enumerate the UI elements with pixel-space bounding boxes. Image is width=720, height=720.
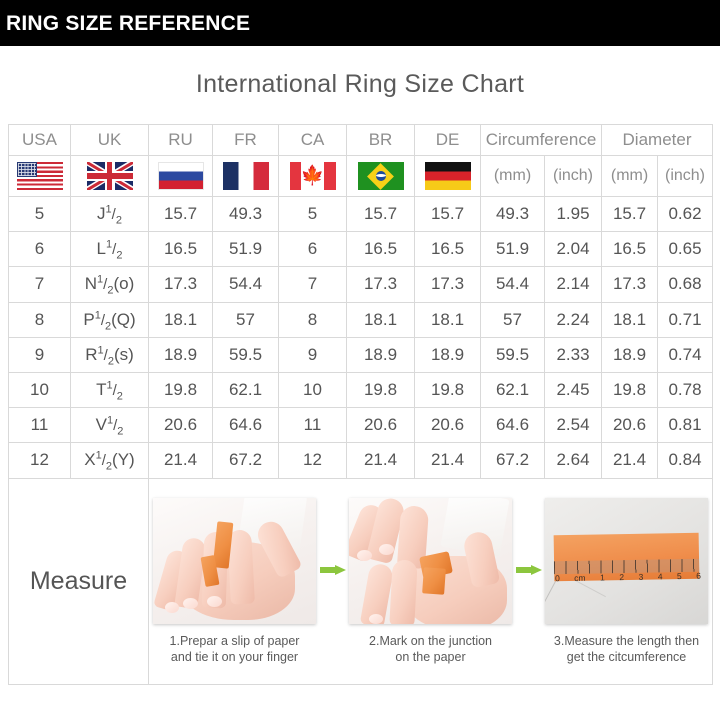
cell-circ-mm: 67.2 [481, 443, 545, 478]
page-banner: RING SIZE REFERENCE [0, 0, 720, 46]
header-circumference: Circumference [481, 125, 602, 156]
cell-circ-inch: 2.04 [545, 232, 602, 267]
header-ca: CA [279, 125, 347, 156]
cell-usa: 8 [9, 302, 71, 337]
cell-de: 15.7 [415, 197, 481, 232]
cell-uk: P1/2(Q) [71, 302, 149, 337]
cell-de: 18.1 [415, 302, 481, 337]
cell-ca: 10 [279, 372, 347, 407]
cell-usa: 12 [9, 443, 71, 478]
cell-ca: 9 [279, 337, 347, 372]
cell-dia-mm: 19.8 [602, 372, 658, 407]
ru-flag-icon [158, 162, 204, 190]
table-row: 6 L1/2 16.5 51.9 6 16.5 16.5 51.9 2.04 1… [9, 232, 713, 267]
cell-circ-inch: 2.45 [545, 372, 602, 407]
flag-cell-ca: 🍁 [279, 156, 347, 197]
cell-fr: 64.6 [213, 408, 279, 443]
ruler-measuring-paper-photo: 0 cm 1 2 3 4 5 6 [545, 498, 708, 624]
table-row: 8 P1/2(Q) 18.1 57 8 18.1 18.1 57 2.24 18… [9, 302, 713, 337]
measure-step-1: 1.Prepar a slip of paper and tie it on y… [150, 498, 320, 665]
cell-ru: 18.1 [149, 302, 213, 337]
measure-step-1-caption: 1.Prepar a slip of paper and tie it on y… [147, 633, 322, 665]
cell-dia-mm: 15.7 [602, 197, 658, 232]
caption-line-2: and tie it on your finger [147, 649, 322, 665]
cell-dia-mm: 20.6 [602, 408, 658, 443]
cell-dia-inch: 0.68 [658, 267, 713, 302]
cell-dia-mm: 18.1 [602, 302, 658, 337]
cell-br: 17.3 [347, 267, 415, 302]
cell-uk: T1/2 [71, 372, 149, 407]
cell-fr: 49.3 [213, 197, 279, 232]
cell-usa: 10 [9, 372, 71, 407]
cell-uk: J1/2 [71, 197, 149, 232]
cell-usa: 6 [9, 232, 71, 267]
cell-dia-mm: 17.3 [602, 267, 658, 302]
cell-circ-mm: 49.3 [481, 197, 545, 232]
measure-section-row: Measure [9, 478, 713, 684]
caption-line-2: on the paper [343, 649, 518, 665]
cell-ca: 12 [279, 443, 347, 478]
unit-diameter-inch: (inch) [658, 156, 713, 197]
cell-fr: 54.4 [213, 267, 279, 302]
cell-br: 18.1 [347, 302, 415, 337]
cell-circ-mm: 57 [481, 302, 545, 337]
measure-step-2: 2.Mark on the junction on the paper [346, 498, 516, 665]
measure-label: Measure [9, 478, 149, 684]
de-flag-icon [425, 162, 471, 190]
cell-br: 18.9 [347, 337, 415, 372]
flag-cell-usa [9, 156, 71, 197]
banner-title: RING SIZE REFERENCE [0, 13, 250, 34]
table-header-units-row: 🍁 (mm) (inch) (mm) (inch) [9, 156, 713, 197]
cell-ru: 21.4 [149, 443, 213, 478]
table-row: 10 T1/2 19.8 62.1 10 19.8 19.8 62.1 2.45… [9, 372, 713, 407]
cell-dia-inch: 0.71 [658, 302, 713, 337]
cell-circ-mm: 59.5 [481, 337, 545, 372]
cell-usa: 7 [9, 267, 71, 302]
cell-ca: 7 [279, 267, 347, 302]
header-ru: RU [149, 125, 213, 156]
header-diameter: Diameter [602, 125, 713, 156]
table-row: 9 R1/2(s) 18.9 59.5 9 18.9 18.9 59.5 2.3… [9, 337, 713, 372]
uk-flag-icon [87, 162, 133, 190]
cell-de: 20.6 [415, 408, 481, 443]
cell-uk: N1/2(o) [71, 267, 149, 302]
cell-circ-mm: 64.6 [481, 408, 545, 443]
cell-circ-mm: 51.9 [481, 232, 545, 267]
cell-uk: R1/2(s) [71, 337, 149, 372]
cell-usa: 9 [9, 337, 71, 372]
cell-ru: 18.9 [149, 337, 213, 372]
cell-dia-mm: 21.4 [602, 443, 658, 478]
measure-step-2-caption: 2.Mark on the junction on the paper [343, 633, 518, 665]
flag-cell-ru [149, 156, 213, 197]
cell-ru: 20.6 [149, 408, 213, 443]
cell-dia-inch: 0.74 [658, 337, 713, 372]
cell-fr: 62.1 [213, 372, 279, 407]
table-row: 7 N1/2(o) 17.3 54.4 7 17.3 17.3 54.4 2.1… [9, 267, 713, 302]
table-row: 12 X1/2(Y) 21.4 67.2 12 21.4 21.4 67.2 2… [9, 443, 713, 478]
cell-circ-inch: 2.64 [545, 443, 602, 478]
cell-fr: 51.9 [213, 232, 279, 267]
cell-dia-inch: 0.62 [658, 197, 713, 232]
measure-step-3: 0 cm 1 2 3 4 5 6 [542, 498, 712, 665]
cell-ca: 5 [279, 197, 347, 232]
cell-de: 19.8 [415, 372, 481, 407]
cell-de: 18.9 [415, 337, 481, 372]
flag-cell-de [415, 156, 481, 197]
header-br: BR [347, 125, 415, 156]
cell-fr: 67.2 [213, 443, 279, 478]
table-row: 5 J1/2 15.7 49.3 5 15.7 15.7 49.3 1.95 1… [9, 197, 713, 232]
flag-cell-fr [213, 156, 279, 197]
unit-diameter-mm: (mm) [602, 156, 658, 197]
unit-circumference-mm: (mm) [481, 156, 545, 197]
cell-circ-inch: 2.14 [545, 267, 602, 302]
cell-ru: 17.3 [149, 267, 213, 302]
header-fr: FR [213, 125, 279, 156]
cell-circ-inch: 2.24 [545, 302, 602, 337]
ruler-scale-marks: 0 cm 1 2 3 4 5 6 [554, 570, 702, 583]
hand-with-paper-strip-photo [153, 498, 316, 624]
measure-step-3-caption: 3.Measure the length then get the citcum… [539, 633, 714, 665]
measure-steps: 1.Prepar a slip of paper and tie it on y… [149, 479, 712, 684]
page-title: International Ring Size Chart [0, 70, 720, 99]
header-usa: USA [9, 125, 71, 156]
ring-size-table-wrap: USA UK RU FR CA BR DE Circumference Diam… [8, 124, 712, 685]
cell-uk: X1/2(Y) [71, 443, 149, 478]
cell-usa: 5 [9, 197, 71, 232]
cell-de: 17.3 [415, 267, 481, 302]
cell-circ-inch: 2.54 [545, 408, 602, 443]
cell-dia-inch: 0.78 [658, 372, 713, 407]
cell-circ-inch: 1.95 [545, 197, 602, 232]
caption-line-1: 3.Measure the length then [539, 633, 714, 649]
ring-size-reference-page: RING SIZE REFERENCE International Ring S… [0, 0, 720, 720]
unit-circumference-inch: (inch) [545, 156, 602, 197]
cell-usa: 11 [9, 408, 71, 443]
cell-uk: V1/2 [71, 408, 149, 443]
cell-br: 15.7 [347, 197, 415, 232]
caption-line-2: get the citcumference [539, 649, 714, 665]
caption-line-1: 1.Prepar a slip of paper [147, 633, 322, 649]
ca-flag-icon: 🍁 [290, 162, 336, 190]
cell-dia-inch: 0.84 [658, 443, 713, 478]
us-flag-icon [17, 162, 63, 190]
cell-circ-mm: 62.1 [481, 372, 545, 407]
cell-br: 16.5 [347, 232, 415, 267]
cell-circ-mm: 54.4 [481, 267, 545, 302]
header-uk: UK [71, 125, 149, 156]
cell-ca: 6 [279, 232, 347, 267]
header-de: DE [415, 125, 481, 156]
cell-circ-inch: 2.33 [545, 337, 602, 372]
cell-br: 20.6 [347, 408, 415, 443]
measure-steps-cell: 1.Prepar a slip of paper and tie it on y… [149, 478, 713, 684]
cell-de: 21.4 [415, 443, 481, 478]
table-header-labels-row: USA UK RU FR CA BR DE Circumference Diam… [9, 125, 713, 156]
br-flag-icon [358, 162, 404, 190]
cell-ru: 16.5 [149, 232, 213, 267]
cell-ru: 15.7 [149, 197, 213, 232]
cell-fr: 57 [213, 302, 279, 337]
arrow-right-icon [516, 565, 542, 576]
cell-br: 21.4 [347, 443, 415, 478]
flag-cell-uk [71, 156, 149, 197]
cell-dia-mm: 16.5 [602, 232, 658, 267]
cell-de: 16.5 [415, 232, 481, 267]
cell-ca: 8 [279, 302, 347, 337]
fr-flag-icon [223, 162, 269, 190]
cell-uk: L1/2 [71, 232, 149, 267]
cell-fr: 59.5 [213, 337, 279, 372]
cell-dia-mm: 18.9 [602, 337, 658, 372]
cell-ru: 19.8 [149, 372, 213, 407]
caption-line-1: 2.Mark on the junction [343, 633, 518, 649]
ring-size-table: USA UK RU FR CA BR DE Circumference Diam… [8, 124, 713, 685]
cell-dia-inch: 0.81 [658, 408, 713, 443]
arrow-right-icon [320, 565, 346, 576]
hand-marking-paper-photo [349, 498, 512, 624]
cell-dia-inch: 0.65 [658, 232, 713, 267]
flag-cell-br [347, 156, 415, 197]
table-row: 11 V1/2 20.6 64.6 11 20.6 20.6 64.6 2.54… [9, 408, 713, 443]
cell-ca: 11 [279, 408, 347, 443]
cell-br: 19.8 [347, 372, 415, 407]
